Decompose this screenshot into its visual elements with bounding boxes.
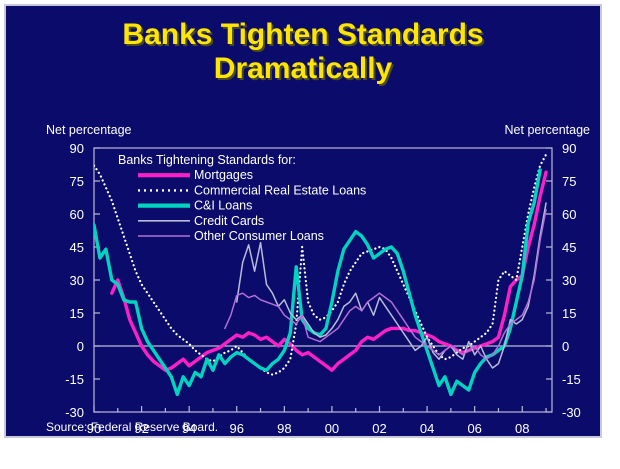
y-tick-label-left: 60	[70, 207, 84, 222]
y-tick-label-right: 45	[562, 240, 576, 255]
x-tick-label: 98	[277, 421, 291, 436]
y-tick-label-left: 30	[70, 273, 84, 288]
x-tick-label: 04	[420, 421, 434, 436]
legend-header: Banks Tightening Standards for:	[118, 153, 296, 167]
y-tick-label-right: 75	[562, 174, 576, 189]
y-tick-label-left: 15	[70, 306, 84, 321]
x-tick-label: 08	[515, 421, 529, 436]
y-tick-label-left: 90	[70, 141, 84, 156]
y-tick-label-right: 0	[562, 339, 569, 354]
series-line-mortgages	[112, 172, 546, 370]
y-tick-label-left: -30	[65, 405, 84, 420]
y-tick-label-right: -30	[562, 405, 581, 420]
source-note: Source: Federal Reserve Board.	[46, 420, 218, 434]
y-tick-label-right: 60	[562, 207, 576, 222]
chart-plot: 90907575606045453030151500-15-15-30-3090…	[6, 6, 604, 440]
legend-label-2: C&I Loans	[194, 199, 252, 213]
y-tick-label-left: 45	[70, 240, 84, 255]
x-tick-label: 02	[372, 421, 386, 436]
y-tick-label-right: -15	[562, 372, 581, 387]
x-tick-label: 00	[325, 421, 339, 436]
legend-label-4: Other Consumer Loans	[194, 229, 324, 243]
y-tick-label-left: 75	[70, 174, 84, 189]
y-tick-label-left: 0	[77, 339, 84, 354]
y-tick-label-right: 15	[562, 306, 576, 321]
y-tick-label-left: -15	[65, 372, 84, 387]
x-tick-label: 96	[230, 421, 244, 436]
legend-label-3: Credit Cards	[194, 214, 264, 228]
y-tick-label-right: 30	[562, 273, 576, 288]
chart-svg: 90907575606045453030151500-15-15-30-3090…	[6, 6, 604, 440]
y-tick-label-right: 90	[562, 141, 576, 156]
x-tick-label: 06	[467, 421, 481, 436]
slide-canvas: Banks Tighten Standards Dramatically Net…	[4, 4, 602, 438]
legend-label-0: Mortgages	[194, 168, 253, 182]
legend-label-1: Commercial Real Estate Loans	[194, 183, 366, 197]
